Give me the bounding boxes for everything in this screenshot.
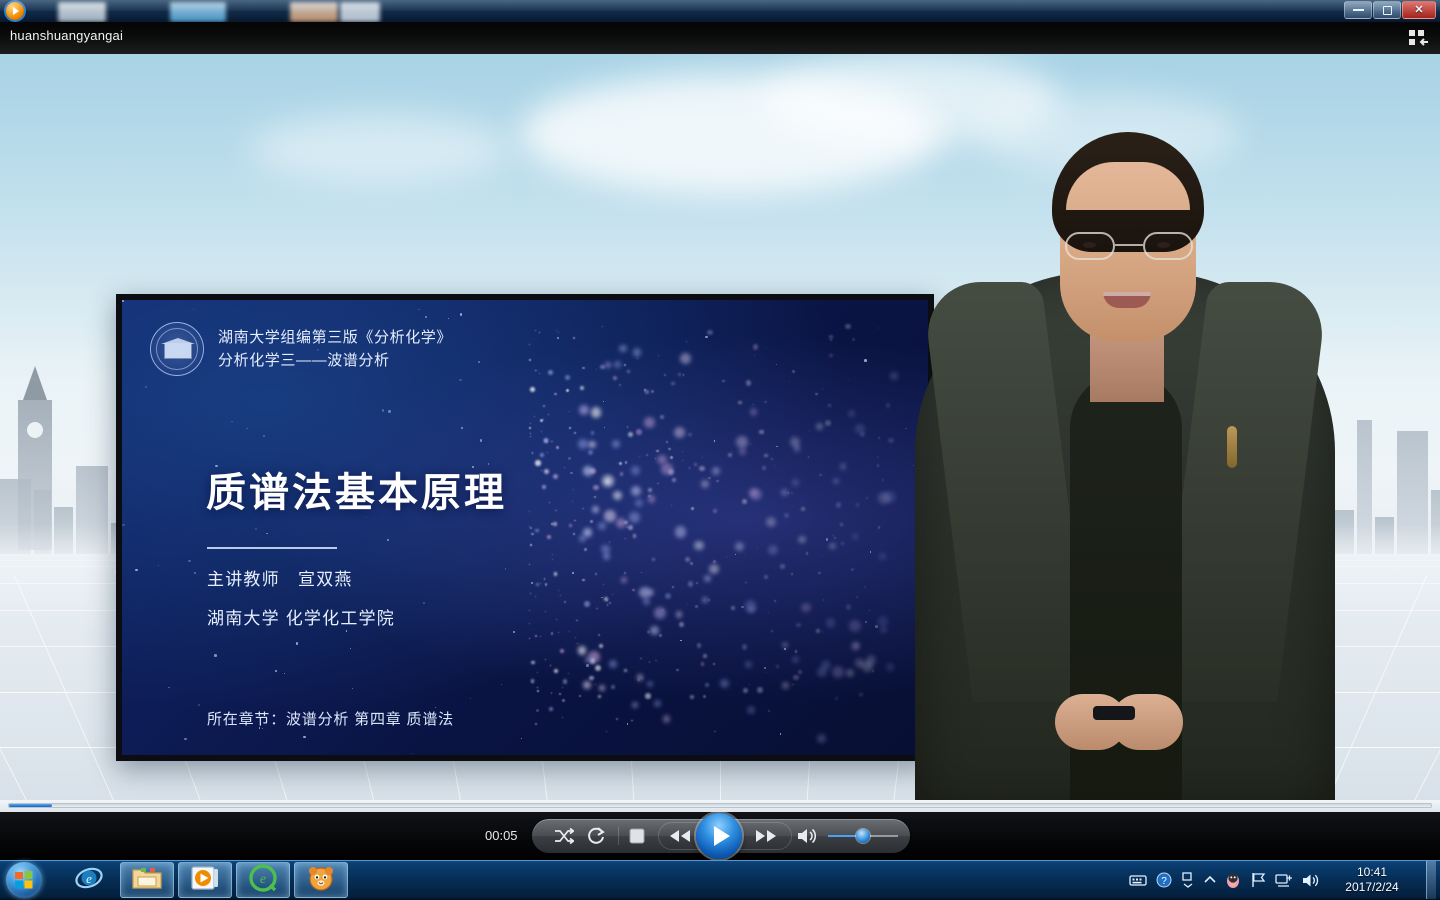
clock-time: 10:41	[1329, 865, 1415, 880]
controls-divider	[618, 827, 619, 845]
taskbar-button-file-explorer[interactable]	[120, 862, 174, 898]
360-browser-icon: e	[248, 863, 278, 898]
file-explorer-icon	[131, 864, 163, 897]
action-center-flag-icon[interactable]	[1250, 872, 1266, 888]
slide-presenter-block: 主讲教师 宣双燕 湖南大学 化学化工学院	[207, 565, 395, 629]
chrome-gloss	[0, 0, 1440, 11]
close-button[interactable]: ✕	[1402, 1, 1436, 19]
taskbar-button-internet-explorer[interactable]: e	[62, 862, 116, 898]
player-title-bar: huanshuangyangai	[0, 22, 1440, 54]
transport-controls	[532, 819, 910, 853]
hunan-university-seal-icon	[150, 322, 204, 376]
presenter-affiliation: 湖南大学 化学化工学院	[207, 604, 395, 629]
internet-explorer-icon: e	[74, 863, 104, 898]
clock-date: 2017/2/24	[1329, 880, 1415, 895]
repeat-icon[interactable]	[586, 826, 606, 846]
presentation-slide-frame: 湖南大学组编第三版《分析化学》 分析化学三——波谱分析 质谱法基本原理 主讲教师…	[116, 294, 934, 761]
system-tray: ? 10:41 2017/2/24	[1129, 860, 1436, 900]
show-desktop-button[interactable]	[1426, 861, 1436, 899]
help-icon[interactable]: ?	[1156, 872, 1172, 888]
svg-text:e: e	[260, 872, 266, 887]
show-hidden-icons-arrow[interactable]	[1204, 875, 1216, 885]
volume-tray-icon[interactable]	[1302, 873, 1320, 888]
rewind-icon[interactable]	[668, 828, 692, 844]
cloud	[250, 114, 510, 184]
player-title: huanshuangyangai	[10, 28, 123, 43]
svg-text:?: ?	[1161, 876, 1167, 887]
presenter-name: 主讲教师 宣双燕	[207, 565, 395, 590]
ime-keyboard-icon[interactable]	[1129, 874, 1147, 886]
play-button[interactable]	[696, 813, 742, 859]
elapsed-time-label: 00:05	[485, 828, 518, 843]
fast-forward-icon[interactable]	[754, 828, 778, 844]
windows-media-player-icon	[190, 864, 220, 897]
slide-header: 湖南大学组编第三版《分析化学》 分析化学三——波谱分析	[150, 322, 452, 376]
taskbar-buttons: ee	[62, 862, 348, 898]
stop-icon[interactable]	[628, 827, 646, 845]
player-control-bar: 00:05	[0, 812, 1440, 860]
windows-start-orb[interactable]	[6, 862, 42, 898]
taskbar-button-windows-media-player[interactable]	[178, 862, 232, 898]
seek-track[interactable]	[8, 803, 1432, 808]
lapel-pin	[1227, 426, 1237, 468]
presentation-clicker	[1093, 706, 1135, 720]
desktop-root: ✕ huanshuangyangai	[0, 0, 1440, 900]
presenter-video-figure	[905, 54, 1345, 812]
shuffle-icon[interactable]	[554, 827, 574, 845]
slide-header-line2: 分析化学三——波谱分析	[218, 351, 452, 371]
seek-progress-fill	[9, 804, 52, 807]
slide-header-line1: 湖南大学组编第三版《分析化学》	[218, 328, 452, 348]
taskbar-clock[interactable]: 10:41 2017/2/24	[1329, 865, 1415, 895]
volume-slider-knob[interactable]	[856, 829, 870, 843]
svg-text:e: e	[86, 871, 92, 886]
qq-penguin-icon[interactable]	[1225, 872, 1241, 889]
restore-button[interactable]	[1373, 1, 1401, 19]
minimize-button[interactable]	[1344, 1, 1372, 19]
tiger-app-icon	[306, 863, 336, 898]
powder-burst-graphic	[444, 309, 911, 746]
slide-divider-rule	[207, 547, 337, 549]
taskbar-button-360-browser[interactable]: e	[236, 862, 290, 898]
windows-taskbar: ee ?	[0, 860, 1440, 900]
presentation-slide: 湖南大学组编第三版《分析化学》 分析化学三——波谱分析 质谱法基本原理 主讲教师…	[122, 300, 928, 755]
seek-bar-area[interactable]	[0, 800, 1440, 812]
ime-options-icon[interactable]	[1181, 872, 1195, 888]
video-stage[interactable]: 湖南大学组编第三版《分析化学》 分析化学三——波谱分析 质谱法基本原理 主讲教师…	[0, 54, 1440, 812]
window-buttons: ✕	[1343, 1, 1436, 19]
close-icon: ✕	[1414, 5, 1423, 16]
slide-chapter-note: 所在章节：波谱分析 第四章 质谱法	[207, 708, 454, 729]
eyeglasses-icon	[1065, 232, 1193, 262]
volume-icon[interactable]	[796, 827, 818, 845]
window-chrome: ✕	[0, 0, 1440, 22]
volume-slider[interactable]	[828, 834, 898, 838]
taskbar-button-tiger-app[interactable]	[294, 862, 348, 898]
slide-title: 质谱法基本原理	[206, 460, 507, 518]
switch-to-library-icon[interactable]	[1406, 28, 1430, 48]
network-icon[interactable]	[1275, 873, 1293, 888]
